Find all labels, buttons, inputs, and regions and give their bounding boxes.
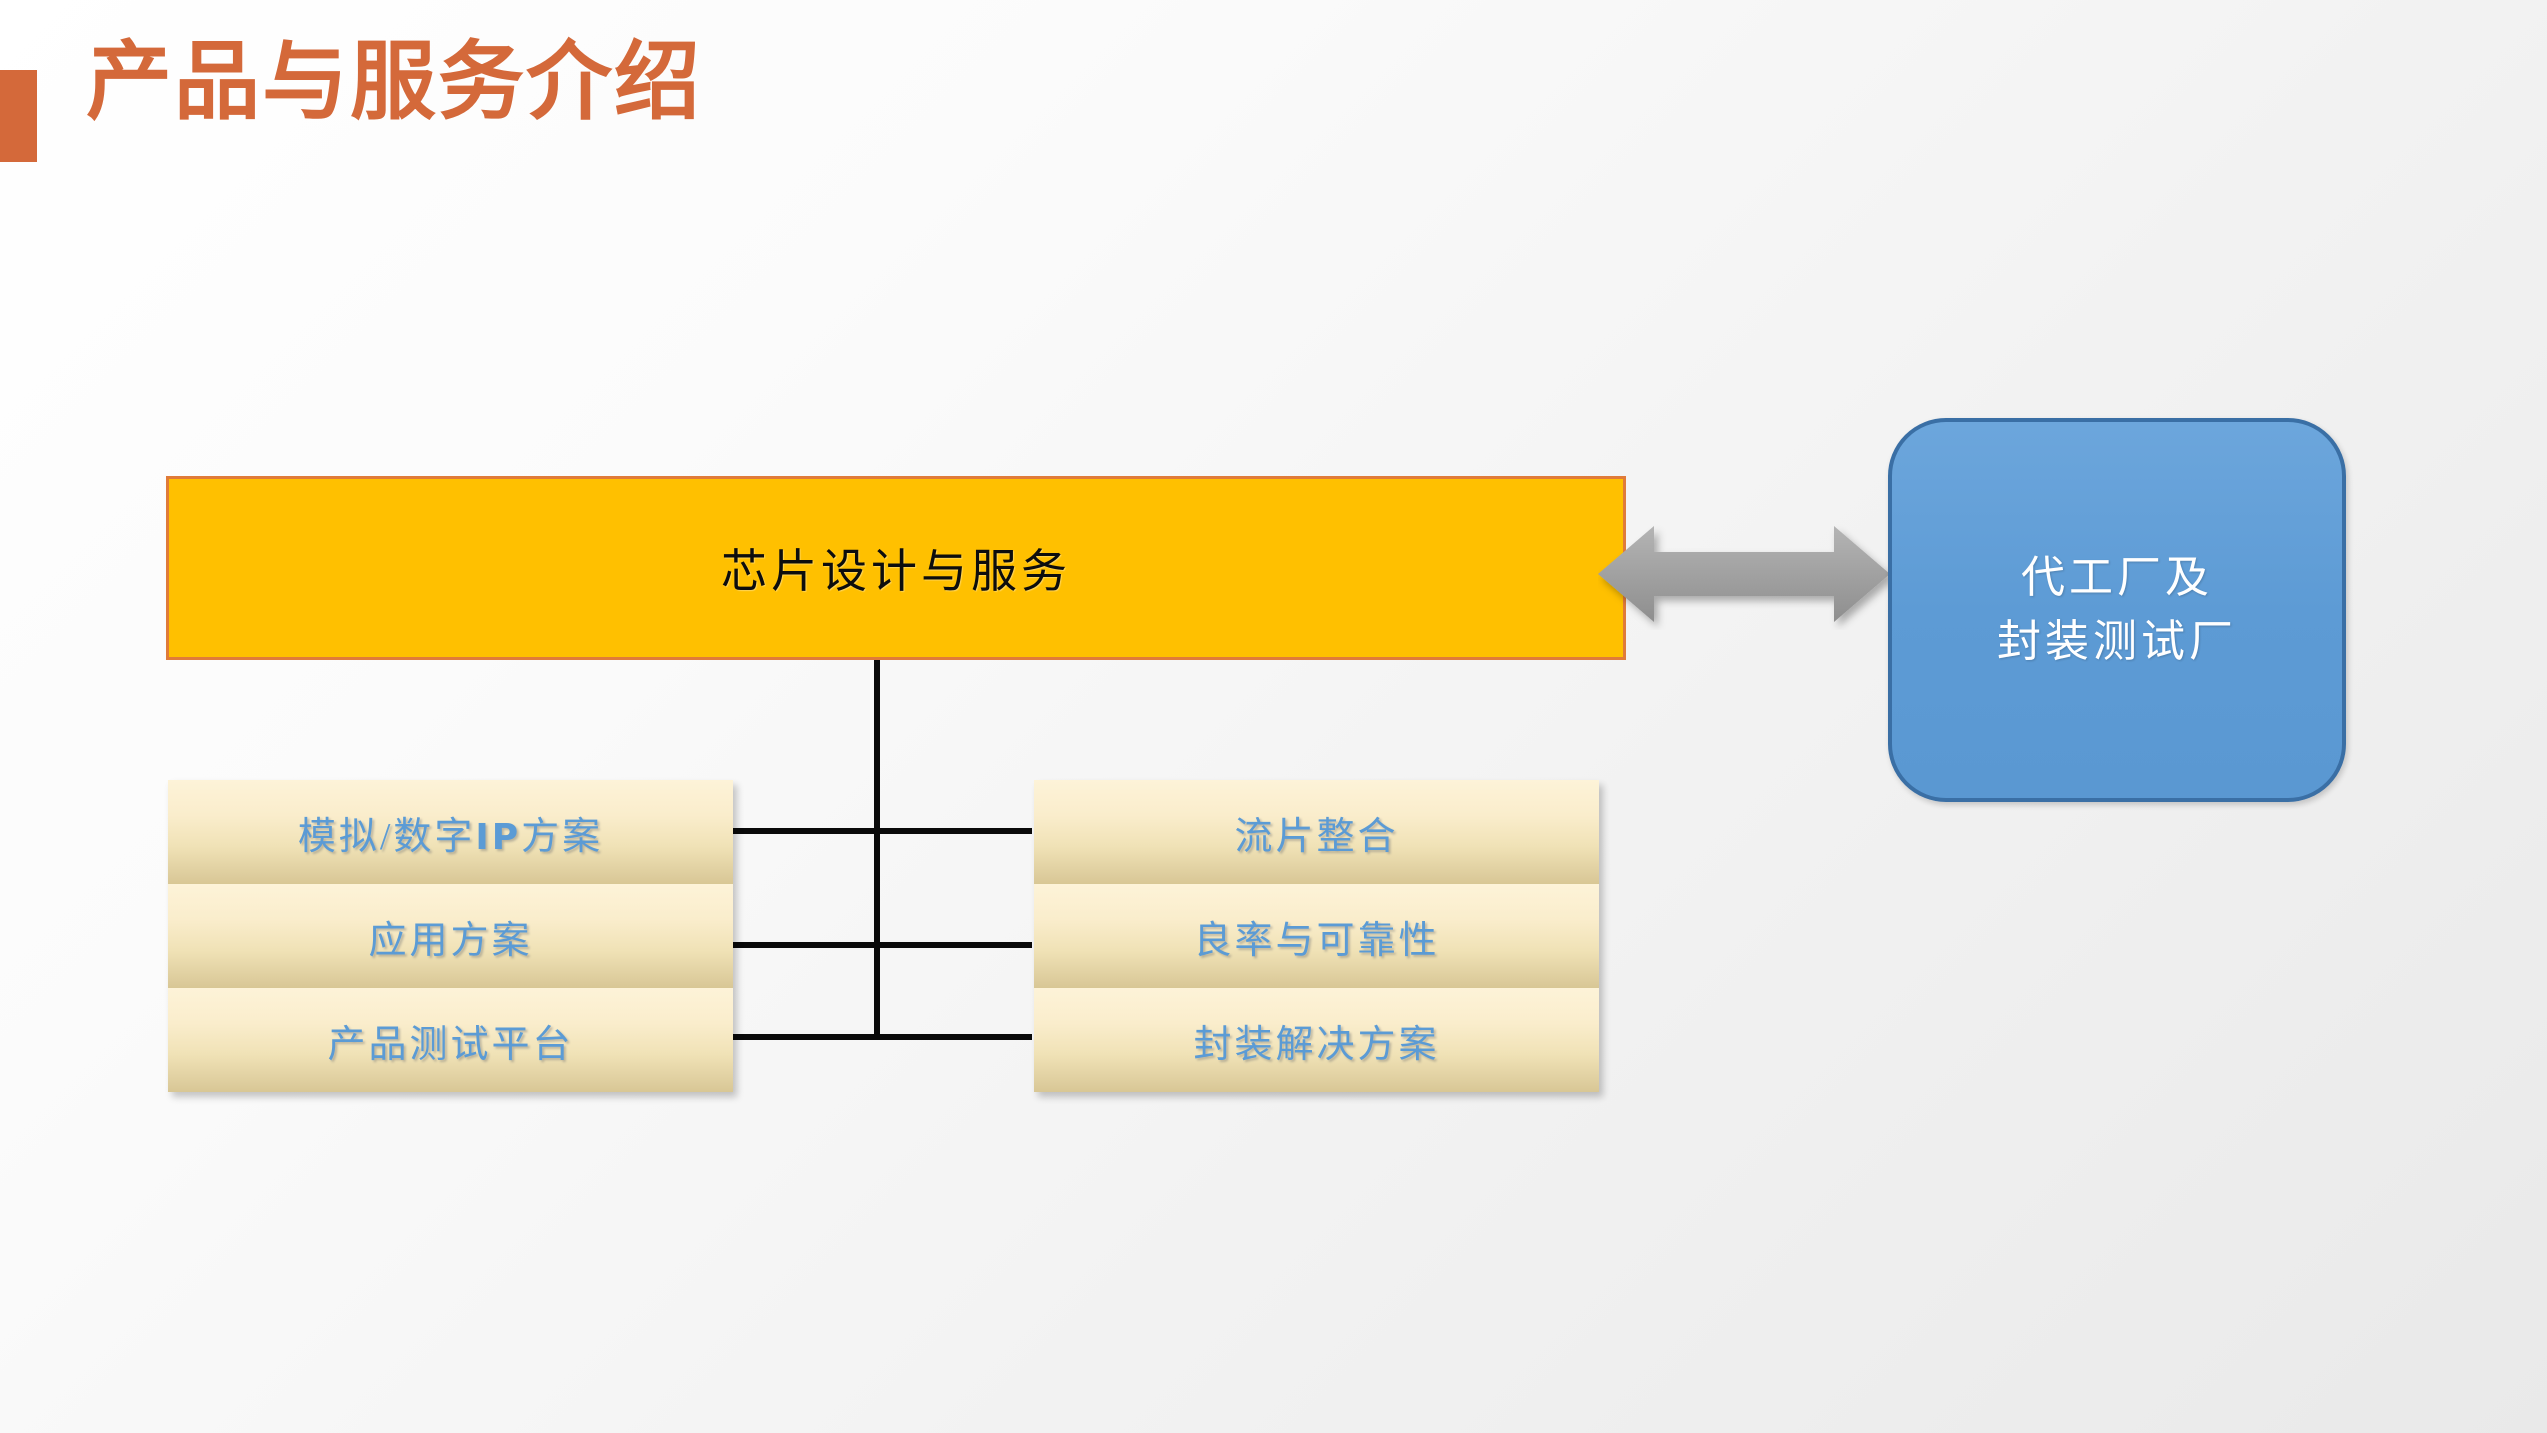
list-item[interactable]: 封装解决方案 [1034, 988, 1599, 1092]
title-accent-bar [0, 70, 37, 162]
right-item-label-1: 流片整合 [1234, 805, 1398, 860]
node-foundry-packaging-line1: 代工厂及 [2021, 546, 2213, 610]
right-item-label-2: 良率与可靠性 [1193, 909, 1439, 964]
left-item-label-2: 应用方案 [368, 909, 532, 964]
right-item-label-3: 封装解决方案 [1193, 1013, 1439, 1068]
node-foundry-packaging-line2: 封装测试厂 [1997, 610, 2237, 674]
list-item[interactable]: 模拟/数字IP方案 [168, 780, 733, 884]
connector-horizontal-row1 [732, 828, 1032, 834]
connector-vertical-trunk [874, 660, 880, 1040]
list-item[interactable]: 产品测试平台 [168, 988, 733, 1092]
connector-horizontal-row2 [732, 942, 1032, 948]
connector-horizontal-row3 [732, 1034, 1032, 1040]
page-title: 产品与服务介绍 [86, 33, 702, 132]
left-item-column: 模拟/数字IP方案 应用方案 产品测试平台 [168, 780, 733, 1092]
list-item[interactable]: 流片整合 [1034, 780, 1599, 884]
node-foundry-packaging[interactable]: 代工厂及 封装测试厂 [1888, 418, 2346, 802]
node-chip-design-service-label: 芯片设计与服务 [721, 535, 1071, 601]
right-item-column: 流片整合 良率与可靠性 封装解决方案 [1034, 780, 1599, 1092]
list-item[interactable]: 良率与可靠性 [1034, 884, 1599, 988]
slide-canvas: 产品与服务介绍 芯片设计与服务 代工厂及 封装测试厂 [0, 0, 2547, 1433]
left-item-label-3: 产品测试平台 [327, 1013, 573, 1068]
double-headed-arrow-icon [1598, 518, 1890, 630]
list-item[interactable]: 应用方案 [168, 884, 733, 988]
left-item-label-1: 模拟/数字IP方案 [298, 805, 603, 860]
node-chip-design-service[interactable]: 芯片设计与服务 [166, 476, 1626, 660]
